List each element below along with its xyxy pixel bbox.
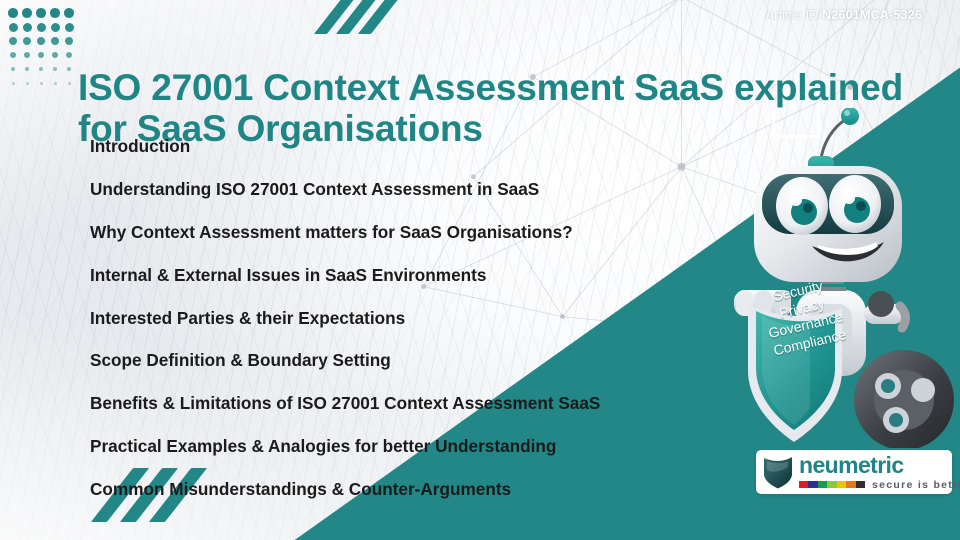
logo-text-block: neumetric secure is better xyxy=(799,454,960,491)
dot-icon xyxy=(68,82,71,85)
agenda-item[interactable]: Benefits & Limitations of ISO 27001 Cont… xyxy=(90,393,730,413)
logo-bottom-row: secure is better xyxy=(799,479,960,491)
agenda-item[interactable]: Internal & External Issues in SaaS Envir… xyxy=(90,265,730,285)
robot-mascot-icon xyxy=(718,108,960,448)
dot-grid-row xyxy=(6,62,76,76)
article-id-label: Article ID xyxy=(766,8,819,22)
dot-grid-decoration xyxy=(6,6,76,90)
dot-icon xyxy=(65,37,73,45)
dot-icon xyxy=(40,82,43,85)
dot-grid-row xyxy=(6,20,76,34)
dot-icon xyxy=(9,23,18,32)
dot-icon xyxy=(12,82,15,85)
logo-color-bar-segment xyxy=(818,481,827,488)
agenda-item[interactable]: Interested Parties & their Expectations xyxy=(90,308,730,328)
dot-icon xyxy=(9,37,17,45)
dot-icon xyxy=(52,52,59,59)
article-id-value: N2601MCA-5326 xyxy=(822,8,922,22)
slide-canvas: Article ID N2601MCA-5326 ISO 27001 Conte… xyxy=(0,0,960,540)
dot-grid-row xyxy=(6,76,76,90)
dot-icon xyxy=(36,8,46,18)
agenda-item[interactable]: Practical Examples & Analogies for bette… xyxy=(90,436,730,456)
dot-icon xyxy=(65,23,74,32)
dot-icon xyxy=(25,67,30,72)
dot-icon xyxy=(8,8,18,18)
dot-icon xyxy=(23,23,32,32)
logo-color-bars xyxy=(799,481,865,488)
agenda-list: IntroductionUnderstanding ISO 27001 Cont… xyxy=(90,136,730,522)
dot-grid-row xyxy=(6,6,76,20)
dot-icon xyxy=(66,52,73,59)
dot-icon xyxy=(22,8,32,18)
dot-icon xyxy=(53,67,58,72)
logo-shield-icon xyxy=(763,455,793,489)
dot-icon xyxy=(26,82,29,85)
dot-icon xyxy=(39,67,44,72)
logo-brand-name: neumetric xyxy=(799,454,960,477)
dot-icon xyxy=(37,23,46,32)
dot-icon xyxy=(38,52,45,59)
agenda-item[interactable]: Why Context Assessment matters for SaaS … xyxy=(90,222,730,242)
logo-color-bar-segment xyxy=(846,481,855,488)
dot-grid-row xyxy=(6,48,76,62)
dot-icon xyxy=(67,67,72,72)
logo-tagline: secure is better xyxy=(872,479,960,491)
dot-icon xyxy=(54,82,57,85)
agenda-item[interactable]: Introduction xyxy=(90,136,730,156)
agenda-item[interactable]: Understanding ISO 27001 Context Assessme… xyxy=(90,179,730,199)
agenda-item[interactable]: Common Misunderstandings & Counter-Argum… xyxy=(90,479,730,499)
logo-color-bar-segment xyxy=(837,481,846,488)
dot-icon xyxy=(24,52,31,59)
dot-icon xyxy=(10,52,17,59)
dot-icon xyxy=(23,37,31,45)
logo-color-bar-segment xyxy=(856,481,865,488)
slashes-top-decoration xyxy=(328,0,385,34)
dot-icon xyxy=(11,67,16,72)
logo-color-bar-segment xyxy=(808,481,817,488)
logo-color-bar-segment xyxy=(799,481,808,488)
article-id: Article ID N2601MCA-5326 xyxy=(766,8,922,22)
page-title-line-1: ISO 27001 Context Assessment SaaS explai… xyxy=(78,67,903,108)
dot-icon xyxy=(37,37,45,45)
agenda-item[interactable]: Scope Definition & Boundary Setting xyxy=(90,350,730,370)
dot-icon xyxy=(51,37,59,45)
dot-grid-row xyxy=(6,34,76,48)
dot-icon xyxy=(64,8,74,18)
dot-icon xyxy=(51,23,60,32)
logo-color-bar-segment xyxy=(827,481,836,488)
dot-icon xyxy=(50,8,60,18)
neumetric-logo[interactable]: neumetric secure is better xyxy=(756,450,952,494)
